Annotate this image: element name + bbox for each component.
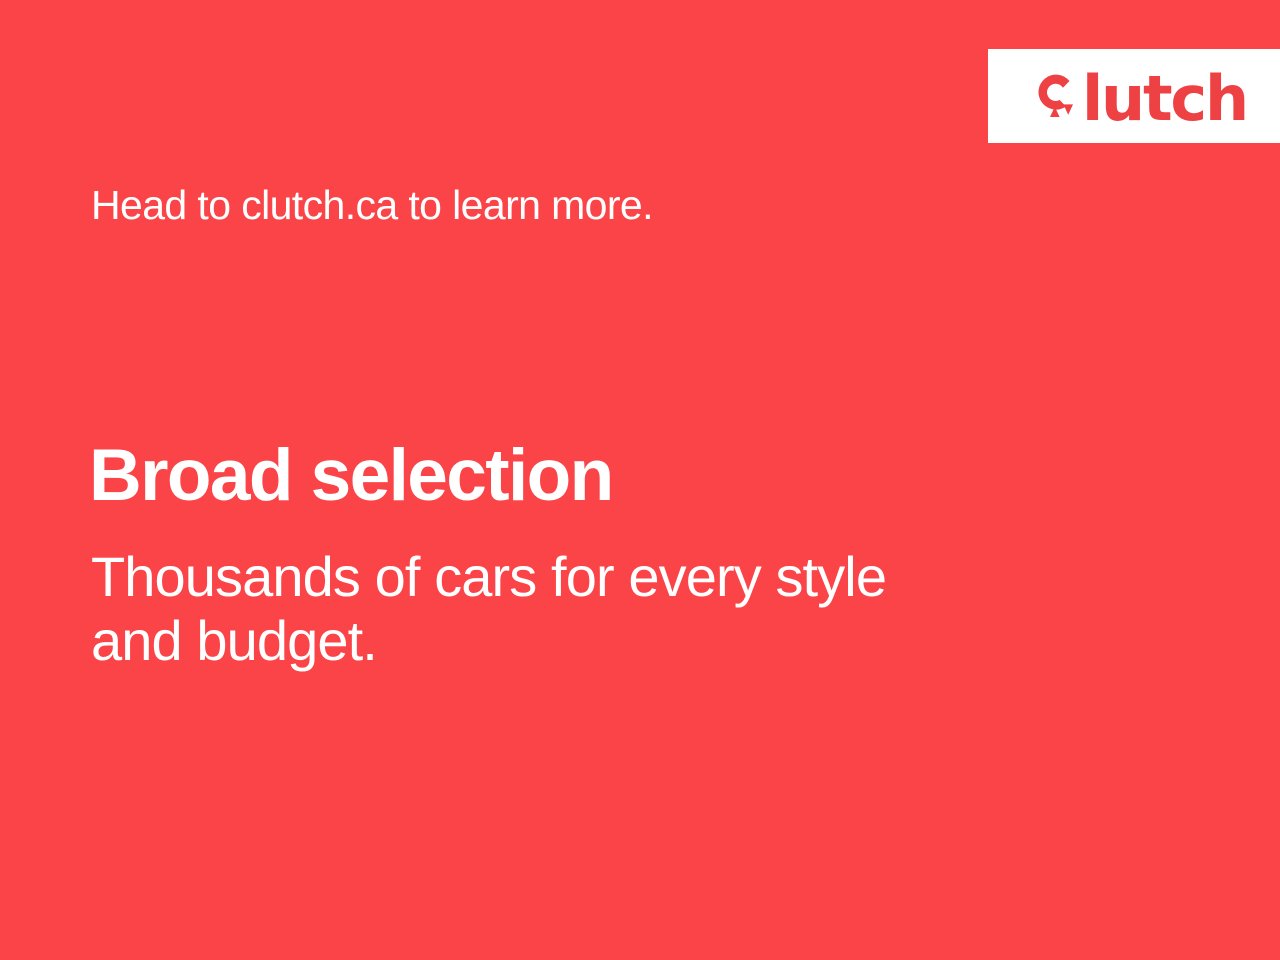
page-title: Broad selection [89, 438, 613, 515]
clutch-logo-lockup: lutch [1032, 68, 1247, 125]
clutch-wordmark: lutch [1082, 74, 1247, 125]
slide-canvas: lutch Head to clutch.ca to learn more. B… [0, 0, 1280, 960]
clutch-c-mark-icon [1032, 68, 1078, 124]
clutch-logo-plate[interactable]: lutch [988, 49, 1280, 143]
eyebrow-text: Head to clutch.ca to learn more. [91, 181, 653, 230]
subhead-text: Thousands of cars for every style and bu… [91, 545, 1051, 673]
subhead-line-2: and budget. [91, 609, 1051, 673]
subhead-line-1: Thousands of cars for every style [91, 545, 1051, 609]
